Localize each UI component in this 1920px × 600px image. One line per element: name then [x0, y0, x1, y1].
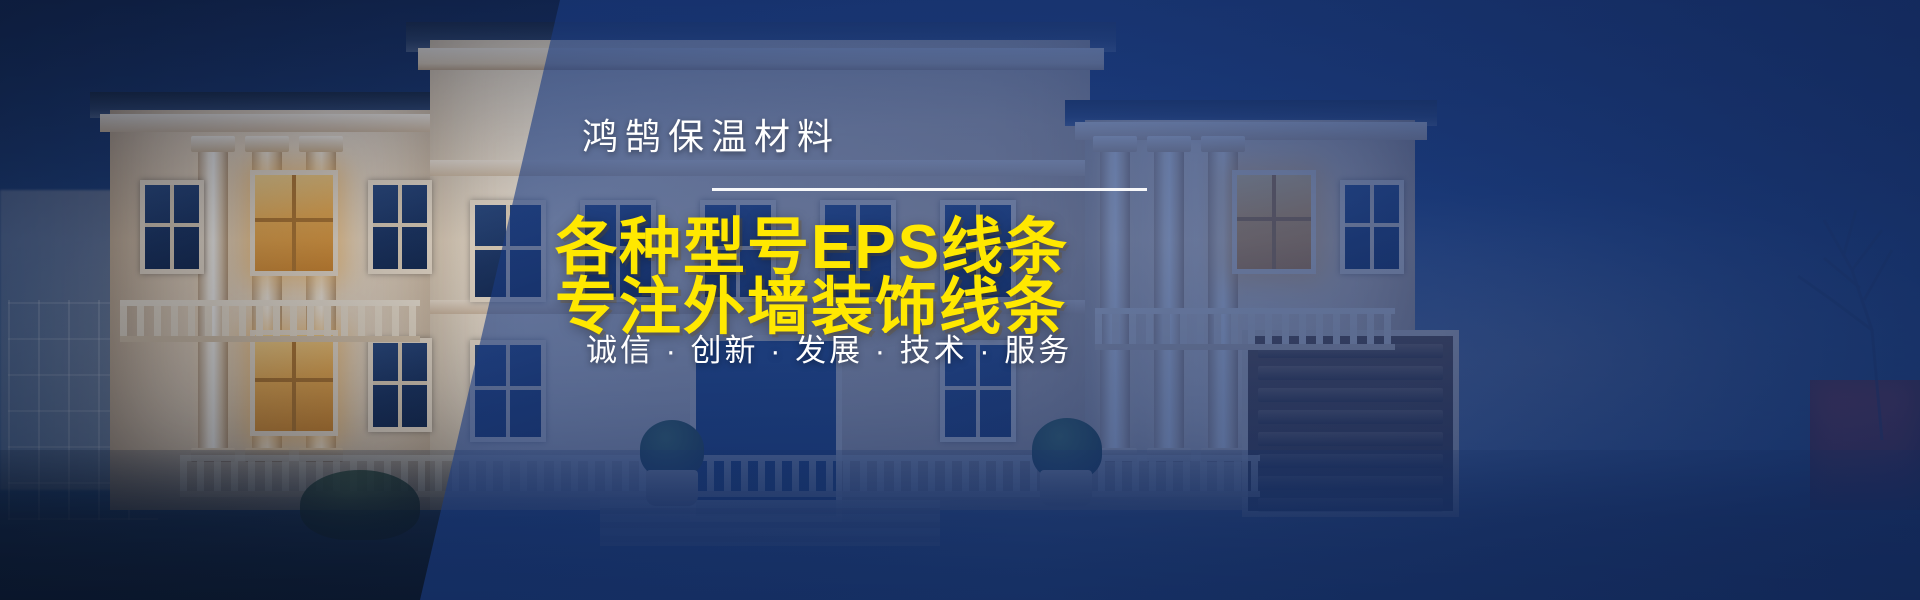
tagline: 诚信 · 创新 · 发展 · 技术 · 服务	[586, 325, 1072, 370]
brand-name: 鸿鹄保温材料	[582, 108, 840, 160]
divider-rule	[712, 188, 1147, 191]
hero-banner: 鸿鹄保温材料 各种型号EPS线条 专注外墙装饰线条 诚信 · 创新 · 发展 ·…	[0, 0, 1920, 600]
banner-copy: 鸿鹄保温材料 各种型号EPS线条 专注外墙装饰线条 诚信 · 创新 · 发展 ·…	[560, 0, 1920, 600]
